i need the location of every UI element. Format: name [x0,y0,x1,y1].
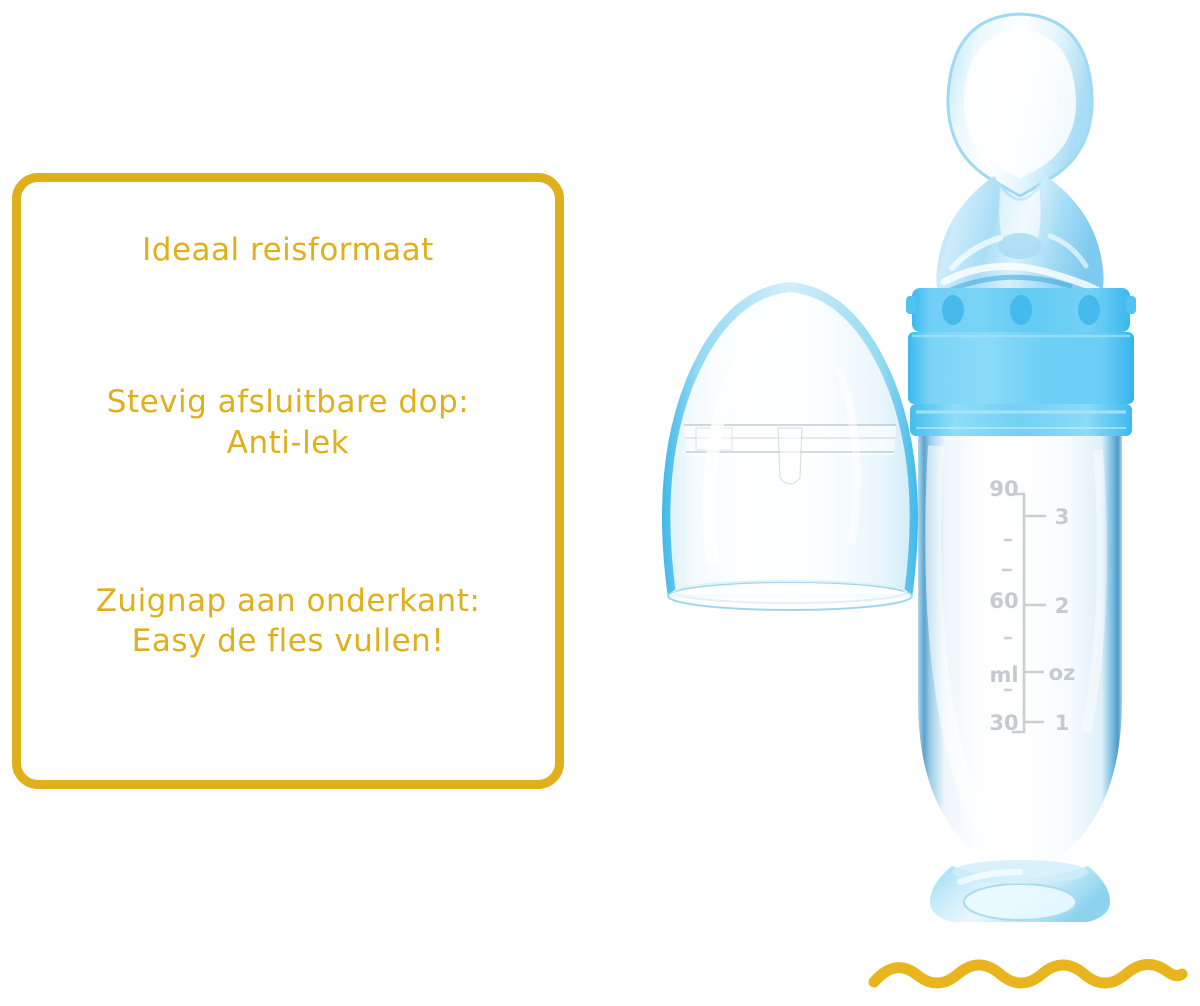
feature-line: Stevig afsluitbare dop: [21,382,555,422]
feature-line: Zuignap aan onderkant: [21,581,555,621]
product-illustration: 90 60 ml 30 3 2 oz 1 [600,0,1200,1006]
feature-item-suction-base: Zuignap aan onderkant: Easy de fles vull… [21,581,555,662]
suction-base-group [930,860,1110,922]
bottle-body-group: 90 60 ml 30 3 2 oz 1 [918,436,1122,874]
feature-line: Ideaal reisformaat [21,230,555,270]
feature-line: Anti-lek [21,423,555,463]
scale-unit-oz: oz [1049,661,1076,685]
feature-line: Easy de fles vullen! [21,621,555,661]
scale-oz-2: 2 [1055,594,1070,618]
scale-oz-3: 3 [1055,505,1070,529]
feature-item-sealable-cap: Stevig afsluitbare dop: Anti-lek [21,382,555,463]
scale-unit-ml: ml [989,663,1018,687]
feature-list: Ideaal reisformaat Stevig afsluitbare do… [21,182,555,780]
scale-ml-30: 30 [989,711,1018,735]
feature-callout-card: Ideaal reisformaat Stevig afsluitbare do… [12,173,564,789]
scale-oz-1: 1 [1055,711,1070,735]
scale-ml-90: 90 [989,477,1018,501]
scale-ml-60: 60 [989,589,1018,613]
product-feature-image: Ideaal reisformaat Stevig afsluitbare do… [0,0,1200,1006]
feature-item-ideal-travel-size: Ideaal reisformaat [21,230,555,270]
collar-group [906,288,1136,436]
gold-wave-accent [868,952,1188,1002]
spoon-group [936,14,1103,296]
cap-group [662,282,918,610]
